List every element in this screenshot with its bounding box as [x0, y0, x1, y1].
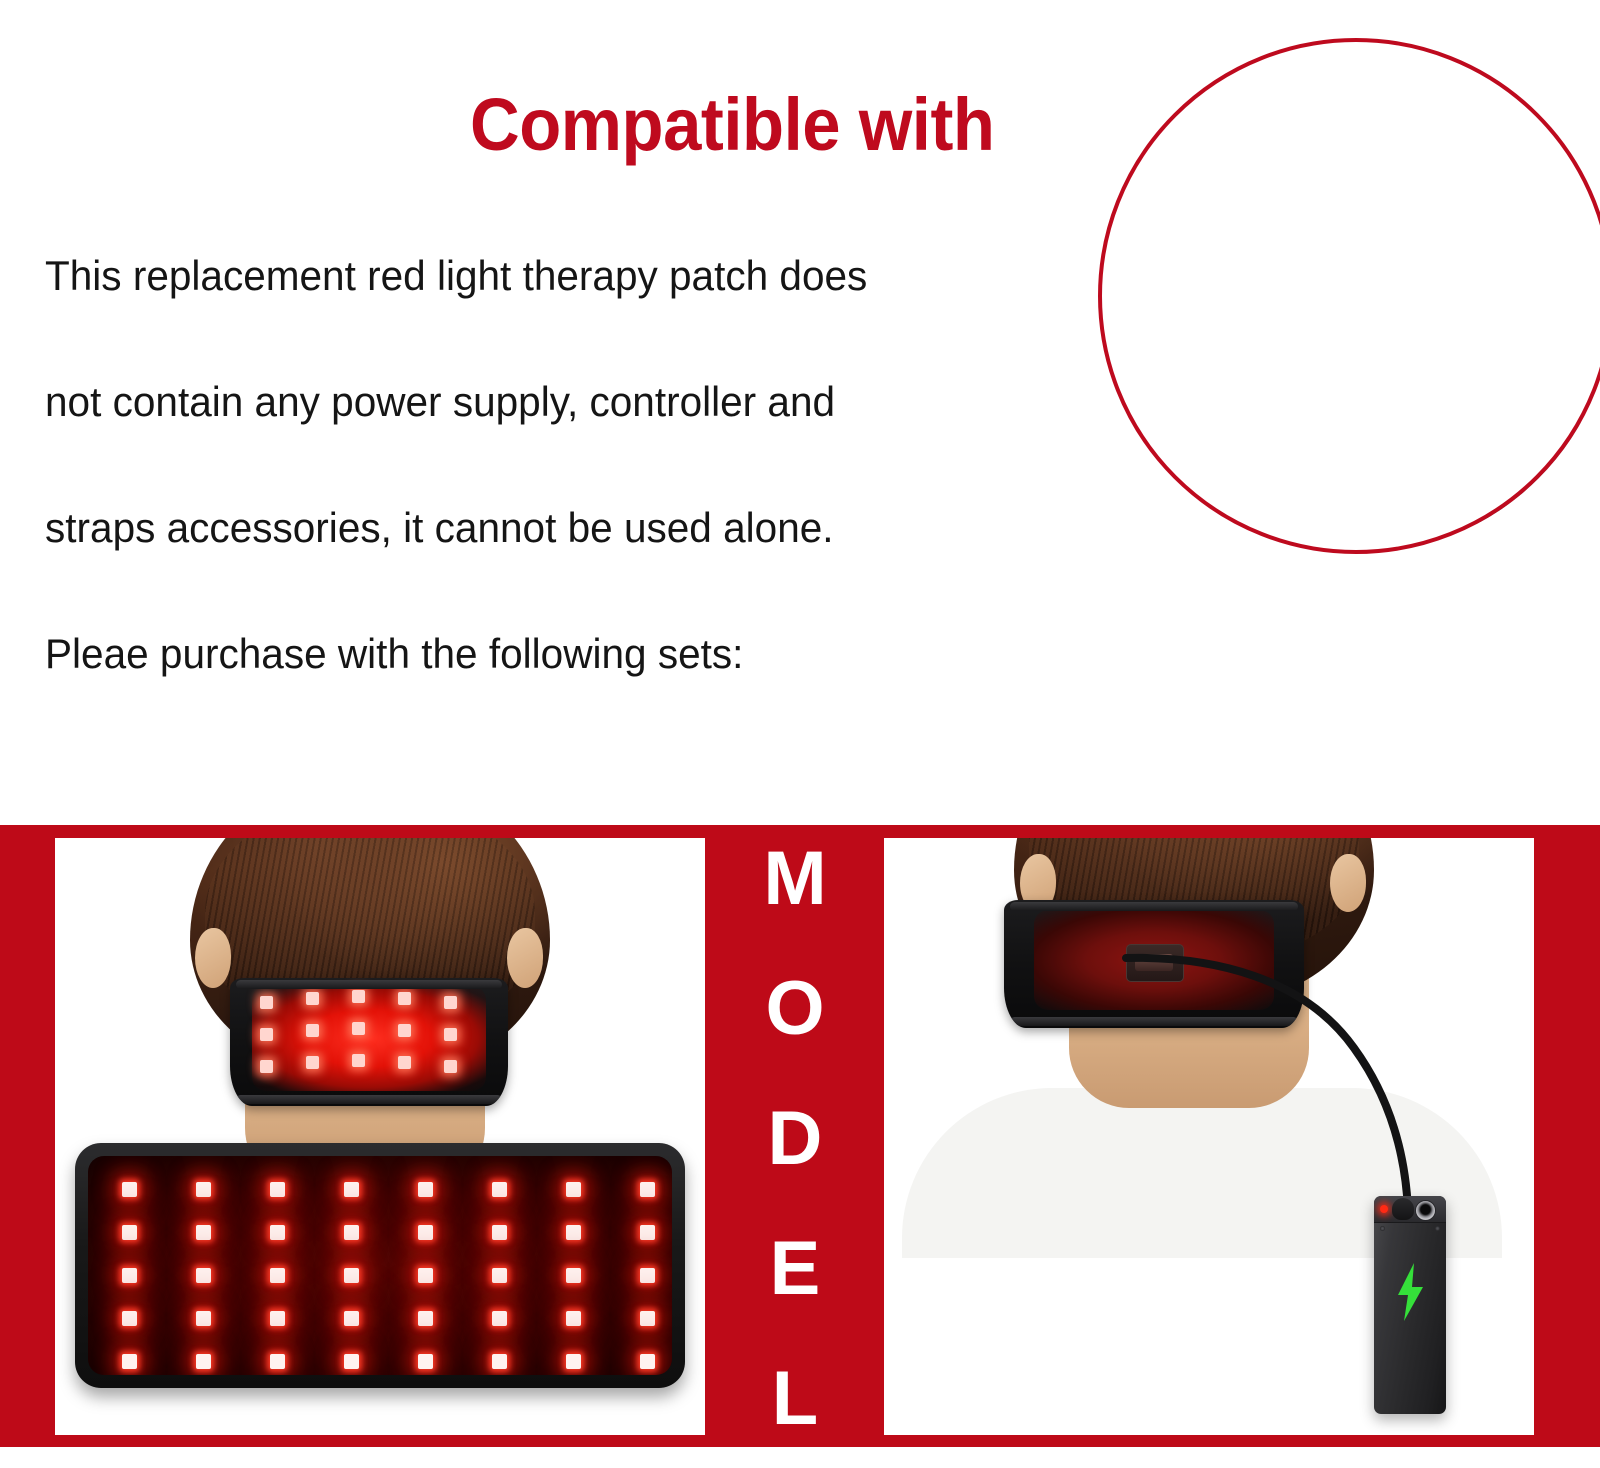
- ear-left: [195, 928, 231, 988]
- model-letter: L: [772, 1363, 818, 1435]
- led-dot: [122, 1225, 137, 1240]
- description-line: not contain any power supply, controller…: [45, 381, 1039, 423]
- led-dot: [418, 1311, 433, 1326]
- led-dot: [122, 1182, 137, 1197]
- neck-wrap-right: [1004, 900, 1304, 1028]
- led-dot: [344, 1182, 359, 1197]
- ear-right: [1330, 854, 1366, 912]
- led-dot: [492, 1225, 507, 1240]
- led-dot: [196, 1354, 211, 1369]
- led-dot: [122, 1268, 137, 1283]
- led-dot: [270, 1354, 285, 1369]
- patch-led-surface: [88, 1156, 672, 1375]
- page-title: Compatible with: [470, 88, 1065, 162]
- led-dot: [196, 1268, 211, 1283]
- model-band: M O D E L: [0, 825, 1600, 1447]
- led-dot: [492, 1311, 507, 1326]
- panel-right: [884, 838, 1534, 1435]
- neck-wrap-left: [230, 978, 508, 1106]
- led-dot: [270, 1182, 285, 1197]
- led-dot: [640, 1311, 655, 1326]
- led-dot: [122, 1311, 137, 1326]
- model-letter: M: [763, 843, 826, 915]
- led-dot: [492, 1182, 507, 1197]
- led-dot: [270, 1311, 285, 1326]
- description-text: This replacement red light therapy patch…: [45, 255, 1075, 675]
- led-dot: [418, 1182, 433, 1197]
- led-dot: [566, 1225, 581, 1240]
- led-dot: [418, 1225, 433, 1240]
- ear-right: [507, 928, 543, 988]
- red-light-patch-red: [75, 1143, 685, 1388]
- battery-indicator-led: [1380, 1205, 1388, 1213]
- led-dot: [566, 1311, 581, 1326]
- led-dot: [344, 1311, 359, 1326]
- led-dot: [196, 1311, 211, 1326]
- led-dot: [418, 1354, 433, 1369]
- led-dot: [566, 1354, 581, 1369]
- model-letter: O: [765, 973, 824, 1045]
- battery-cable-boot: [1392, 1198, 1414, 1220]
- red-circle-outline: [1098, 38, 1600, 554]
- led-dot: [566, 1182, 581, 1197]
- led-dot: [492, 1268, 507, 1283]
- led-dot: [344, 1354, 359, 1369]
- led-dot: [344, 1225, 359, 1240]
- led-dot: [270, 1225, 285, 1240]
- intro-section: Compatible with This replacement red lig…: [0, 0, 1600, 825]
- panel-left: [55, 838, 705, 1435]
- battery-pack: [1374, 1196, 1446, 1414]
- lightning-bolt-icon: [1389, 1261, 1431, 1323]
- led-dot: [344, 1268, 359, 1283]
- led-dot: [640, 1182, 655, 1197]
- battery-dc-jack: [1415, 1200, 1436, 1221]
- led-dot: [270, 1268, 285, 1283]
- led-dot: [492, 1354, 507, 1369]
- led-dot: [640, 1354, 655, 1369]
- led-dot: [566, 1268, 581, 1283]
- wrap-connector-socket: [1126, 944, 1184, 982]
- led-dot: [640, 1225, 655, 1240]
- led-dot: [196, 1225, 211, 1240]
- dc-connector-figure: [1098, 38, 1600, 562]
- description-line: Pleae purchase with the following sets:: [45, 633, 1039, 675]
- description-line: straps accessories, it cannot be used al…: [45, 507, 1039, 549]
- led-dot: [122, 1354, 137, 1369]
- model-label: M O D E L: [735, 833, 855, 1439]
- led-dot: [418, 1268, 433, 1283]
- model-letter: D: [768, 1103, 823, 1175]
- led-dot: [196, 1182, 211, 1197]
- model-letter: E: [770, 1233, 821, 1305]
- description-line: This replacement red light therapy patch…: [45, 255, 1039, 297]
- led-dot: [640, 1268, 655, 1283]
